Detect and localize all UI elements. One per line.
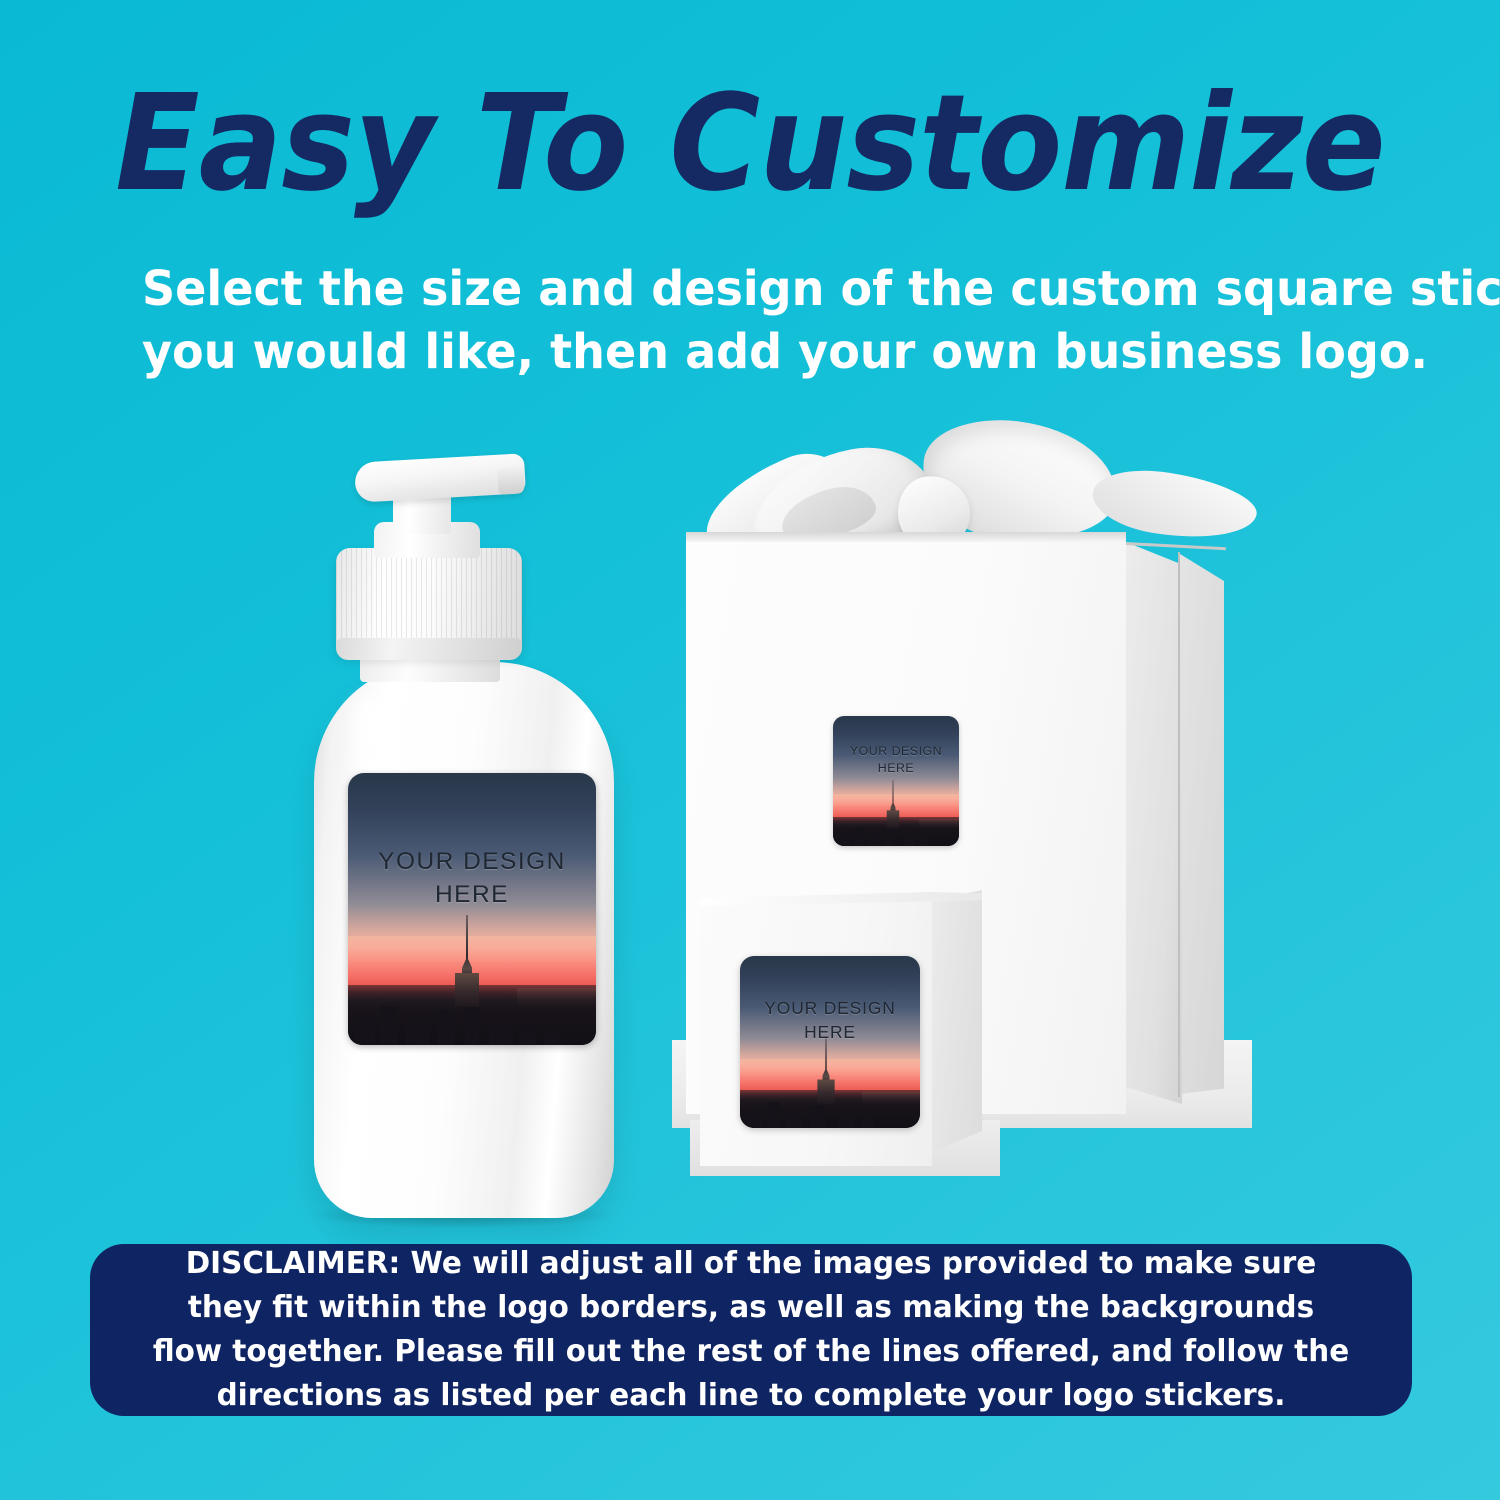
building [405, 1021, 430, 1045]
subtitle-line-1: Select the size and design of the custom… [142, 258, 1358, 321]
building [810, 1105, 824, 1128]
building [767, 1102, 780, 1128]
building [544, 1033, 559, 1045]
spire-body [455, 973, 479, 1007]
sticker-label-line-2: HERE [740, 1021, 920, 1044]
disclaimer-box: DISCLAIMER: We will adjust all of the im… [90, 1244, 1412, 1416]
sticker-preview-bottle-label[interactable]: YOUR DESIGN HERE [348, 773, 596, 1045]
sticker-label-line-1: YOUR DESIGN [850, 744, 942, 758]
building [465, 1002, 480, 1045]
building [841, 831, 852, 846]
gift-box-lid-edge [686, 532, 1126, 542]
pump-nozzle-tip [497, 467, 524, 494]
promo-banner: Easy To Customize Select the size and de… [0, 0, 1500, 1500]
carton-side-panel [932, 890, 982, 1152]
sticker-artwork: YOUR DESIGN HERE [740, 956, 920, 1128]
building [919, 837, 928, 846]
gift-box-side-back [1180, 554, 1224, 1094]
building [519, 1029, 536, 1045]
spire-mast [466, 915, 468, 961]
building [785, 1112, 803, 1128]
gift-box-side-panel [1126, 542, 1182, 1104]
sticker-label: YOUR DESIGN HERE [348, 846, 596, 912]
building [489, 1023, 511, 1045]
spire-body [887, 810, 899, 828]
spire-body [818, 1079, 835, 1103]
sticker-label: YOUR DESIGN HERE [740, 997, 920, 1044]
building [355, 1016, 375, 1045]
building [747, 1109, 763, 1128]
sticker-label: YOUR DESIGN HERE [833, 743, 959, 776]
subtitle: Select the size and design of the custom… [142, 258, 1358, 384]
sticker-label-line-2: HERE [833, 760, 959, 777]
page-title: Easy To Customize [53, 78, 1448, 211]
building [904, 835, 915, 846]
building [839, 1114, 855, 1128]
disclaimer-text: DISCLAIMER: We will adjust all of the im… [153, 1242, 1350, 1418]
sticker-preview-gift-box[interactable]: YOUR DESIGN HERE [833, 716, 959, 846]
gift-box-corner-seam [1178, 552, 1180, 1097]
disclaimer-label: DISCLAIMER: [186, 1246, 401, 1281]
building [380, 1006, 397, 1045]
sticker-label-line-2: HERE [348, 879, 596, 912]
sticker-artwork: YOUR DESIGN HERE [833, 716, 959, 846]
subtitle-line-2: you would like, then add your own busine… [142, 321, 1358, 384]
sticker-label-line-1: YOUR DESIGN [764, 998, 895, 1018]
sticker-label-line-1: YOUR DESIGN [378, 848, 566, 875]
pump-collar-lip [336, 638, 522, 660]
sticker-artwork: YOUR DESIGN HERE [348, 773, 596, 1045]
sticker-preview-carton[interactable]: YOUR DESIGN HERE [740, 956, 920, 1128]
building [861, 1117, 874, 1128]
building [437, 1010, 454, 1045]
building [867, 833, 880, 846]
building [854, 827, 863, 846]
building [883, 829, 893, 846]
